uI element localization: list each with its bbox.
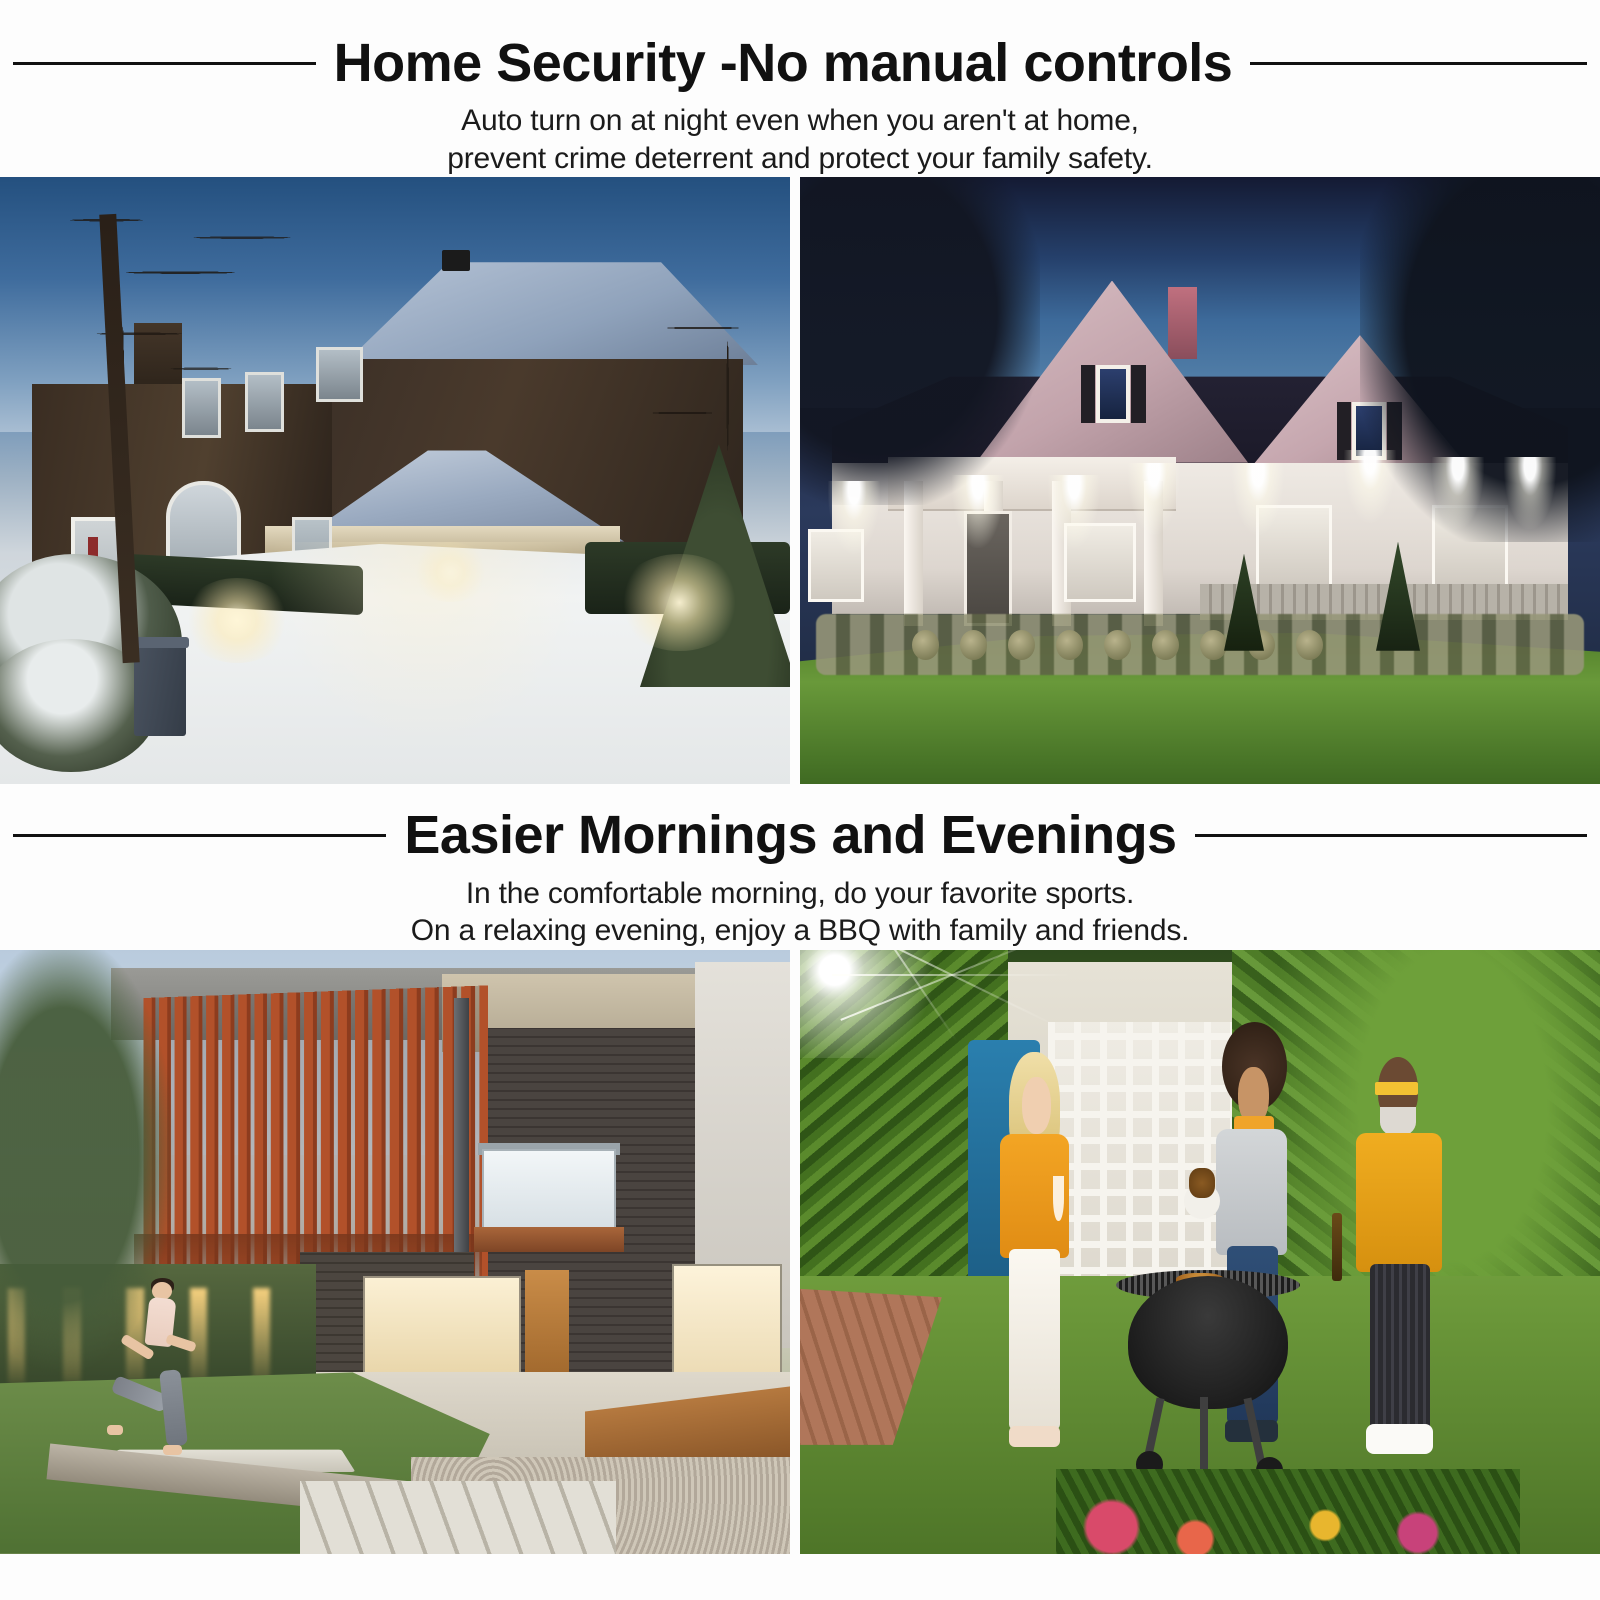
stepping-pavers	[300, 1481, 616, 1553]
boxwood-ball	[1152, 630, 1179, 660]
subtitle-line-2: prevent crime deterrent and protect your…	[0, 140, 1600, 178]
bare-tree	[600, 226, 790, 566]
section-header-home-security: Home Security -No manual controls Auto t…	[0, 0, 1600, 177]
section-header-easier-mornings-evenings: Easier Mornings and Evenings In the comf…	[0, 784, 1600, 949]
flower-bed	[1056, 1469, 1520, 1554]
subtitle-line-1: In the comfortable morning, do your favo…	[0, 875, 1600, 913]
title-rule-left	[13, 62, 316, 65]
floodlight	[1232, 463, 1284, 536]
bottle	[1332, 1213, 1342, 1281]
white-sneakers	[1366, 1424, 1433, 1454]
sunglasses	[1375, 1082, 1418, 1095]
boxwood-ball	[1104, 630, 1131, 660]
leg	[159, 1369, 188, 1447]
food-plate	[1184, 1183, 1220, 1219]
boxwood-ball	[960, 630, 987, 660]
floodlight	[1344, 450, 1396, 523]
section-subtitle: Auto turn on at night even when you aren…	[0, 102, 1600, 177]
section-subtitle: In the comfortable morning, do your favo…	[0, 875, 1600, 950]
striped-trousers	[1370, 1264, 1430, 1433]
foot	[107, 1425, 123, 1435]
olive-tree	[0, 950, 174, 1373]
photo-backyard-bbq	[800, 950, 1600, 1554]
floodlight	[952, 475, 1004, 548]
title-row: Easier Mornings and Evenings	[0, 806, 1600, 864]
yellow-polo	[1356, 1133, 1442, 1273]
background-tree	[800, 177, 1040, 505]
floodlight	[800, 950, 976, 1059]
title-rule-right	[1195, 834, 1587, 837]
white-trousers	[1009, 1249, 1061, 1430]
garden-uplight	[253, 1288, 270, 1385]
boxwood-ball	[912, 630, 939, 660]
grey-sweatshirt	[1216, 1129, 1288, 1254]
boxwood-ball	[1056, 630, 1083, 660]
photo-yoga-modern-house	[0, 950, 790, 1554]
roof-vent	[442, 250, 470, 271]
photo-grid-home-security	[0, 177, 1600, 784]
light-wash	[269, 542, 585, 748]
wine-glass	[1053, 1176, 1063, 1221]
bare-tree	[16, 177, 427, 596]
foot	[163, 1445, 182, 1455]
floodlight	[1504, 457, 1556, 530]
title-rule-right	[1250, 62, 1587, 65]
balcony-floor	[474, 1227, 624, 1251]
boxwood-ball	[1008, 630, 1035, 660]
balcony-glazing	[482, 1149, 616, 1240]
person-man-right	[1344, 1052, 1464, 1475]
floodlight	[828, 481, 880, 554]
boxwood-ball	[1296, 630, 1323, 660]
boxwood-ball	[1200, 630, 1227, 660]
kettle-bbq	[1128, 1276, 1288, 1409]
photo-grid-easier-mornings-evenings	[0, 950, 1600, 1554]
marketing-page: Home Security -No manual controls Auto t…	[0, 0, 1600, 1600]
subtitle-line-1: Auto turn on at night even when you aren…	[0, 102, 1600, 140]
title-row: Home Security -No manual controls	[0, 34, 1600, 92]
section-title: Easier Mornings and Evenings	[386, 806, 1194, 864]
shoes	[1009, 1426, 1061, 1447]
window-shutter	[1081, 365, 1095, 423]
floodlight	[1048, 475, 1100, 548]
title-rule-left	[13, 834, 386, 837]
section-title: Home Security -No manual controls	[316, 34, 1251, 92]
face	[1022, 1077, 1051, 1135]
photo-craftsman-house-floodlit	[800, 177, 1600, 784]
trash-bin	[134, 645, 185, 736]
floodlight	[1128, 463, 1180, 536]
person-woman-left	[984, 1052, 1096, 1463]
floodlight	[1432, 457, 1484, 530]
gable-window	[1096, 365, 1130, 423]
window-shutter	[1131, 365, 1145, 423]
photo-snowy-driveway-house	[0, 177, 790, 784]
subtitle-line-2: On a relaxing evening, enjoy a BBQ with …	[0, 912, 1600, 950]
chimney	[1168, 287, 1197, 360]
